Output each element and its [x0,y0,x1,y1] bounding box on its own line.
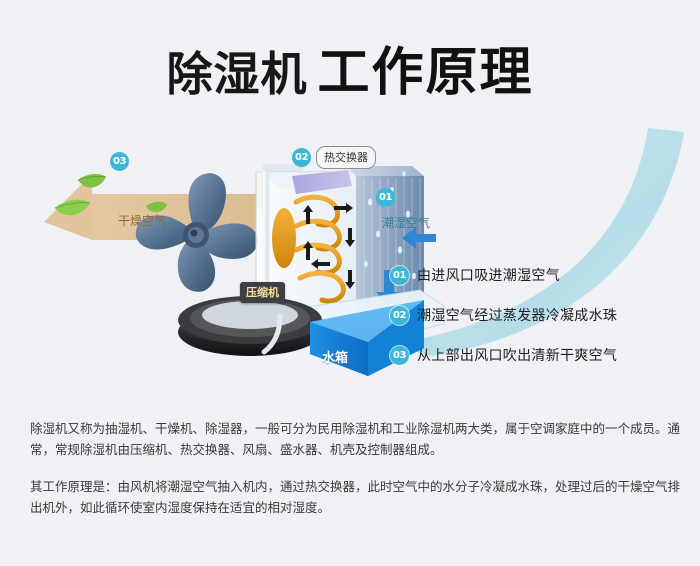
legend-item-03: 03 从上部出风口吹出清新干爽空气 [390,335,690,375]
legend-badge-02: 02 [390,306,409,325]
description-paragraph-1: 除湿机又称为抽湿机、干燥机、除湿器，一般可分为民用除湿机和工业除湿机两大类，属于… [30,418,680,460]
legend-text-03: 从上部出风口吹出清新干爽空气 [417,345,617,365]
accumulator-cylinder [272,208,296,268]
fan-illustration [136,173,258,292]
label-dry-air: 干燥空气 [118,212,166,229]
infographic-page: 除湿机工作原理 [0,0,700,566]
description-paragraph-2: 其工作原理是：由风机将潮湿空气抽入机内，通过热交换器，此时空气中的水分子冷凝成水… [30,476,680,518]
legend-item-02: 02 潮湿空气经过蒸发器冷凝成水珠 [390,295,690,335]
legend-text-02: 潮湿空气经过蒸发器冷凝成水珠 [417,305,617,325]
chip-03: 03 [110,152,129,171]
label-water-tank: 水箱 [322,347,348,366]
page-title: 除湿机工作原理 [0,30,700,105]
page-title-part1: 除湿机 [166,47,307,101]
legend-text-01: 由进风口吸进潮湿空气 [417,265,560,285]
page-title-part2: 工作原理 [317,43,533,103]
legend-list: 01 由进风口吸进潮湿空气 02 潮湿空气经过蒸发器冷凝成水珠 03 从上部出风… [390,255,690,375]
callout-compressor: 压缩机 [240,282,285,303]
legend-item-01: 01 由进风口吸进潮湿空气 [390,255,690,295]
callout-heat-exchanger: 热交换器 [316,146,376,169]
chip-01: 01 [376,188,395,207]
description-block: 除湿机又称为抽湿机、干燥机、除湿器，一般可分为民用除湿机和工业除湿机两大类，属于… [30,418,680,518]
legend-badge-03: 03 [390,346,409,365]
legend-badge-01: 01 [390,266,409,285]
machine-base [178,296,322,356]
chip-02: 02 [292,148,311,167]
label-humid-air: 潮湿空气 [382,214,430,231]
